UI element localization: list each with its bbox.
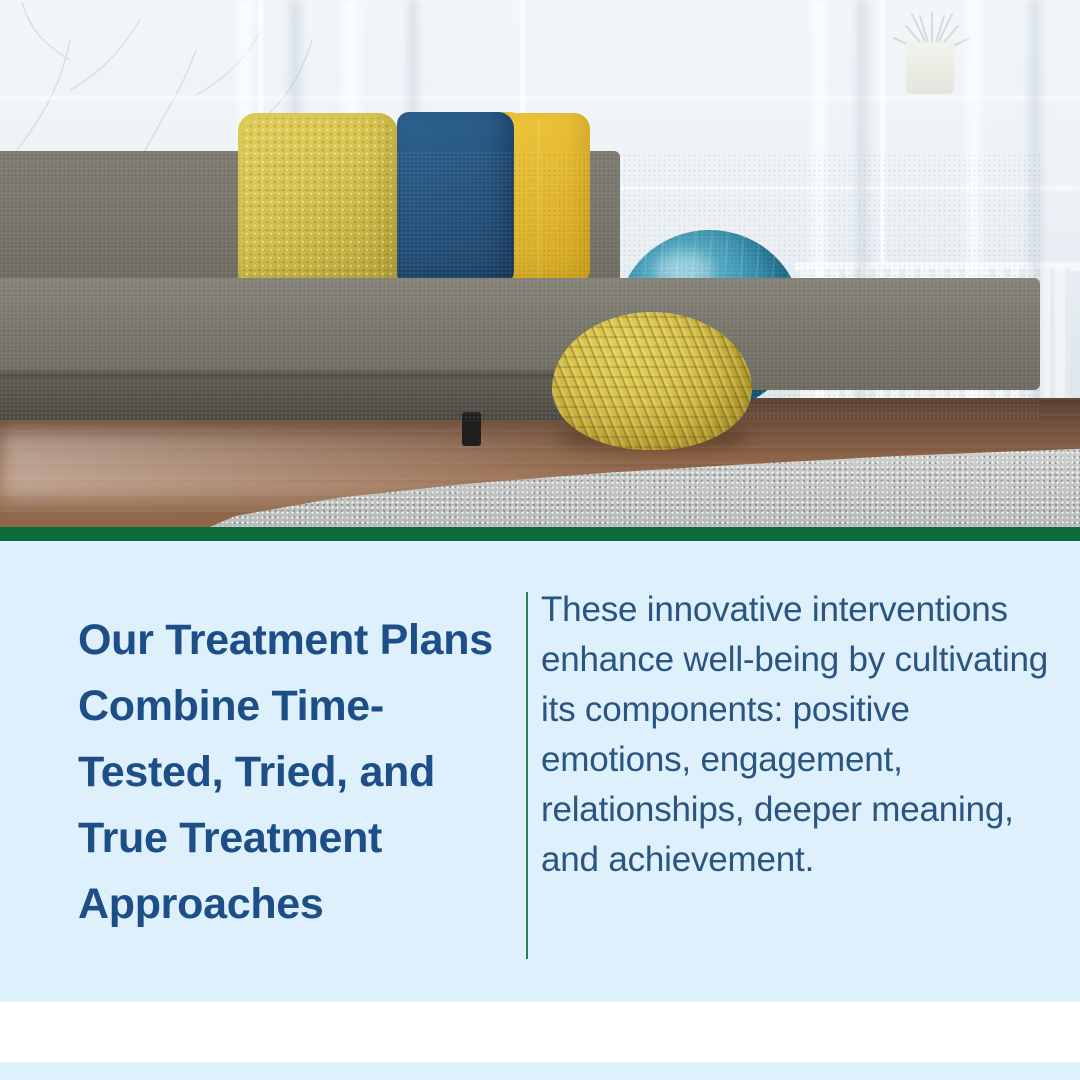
knitted-pouf <box>552 312 752 450</box>
pillow-textured-yellow <box>238 113 398 288</box>
hero-photo <box>0 0 1080 527</box>
sofa-base <box>0 378 640 420</box>
pillow-navy-blue <box>397 112 514 285</box>
footer-white-band <box>0 1002 1080 1062</box>
window-sill <box>0 96 1080 100</box>
page-title: Our Treatment Plans Combine Time-Tested,… <box>78 607 498 937</box>
body-paragraph: These innovative interventions enhance w… <box>541 585 1061 885</box>
green-accent-bar <box>0 527 1080 541</box>
vertical-divider <box>526 592 528 959</box>
sofa-leg <box>462 412 481 446</box>
plant-pot <box>906 42 954 94</box>
promo-card: Our Treatment Plans Combine Time-Tested,… <box>0 0 1080 1080</box>
content-panel: Our Treatment Plans Combine Time-Tested,… <box>0 541 1080 1002</box>
footer-blue-band <box>0 1062 1080 1080</box>
